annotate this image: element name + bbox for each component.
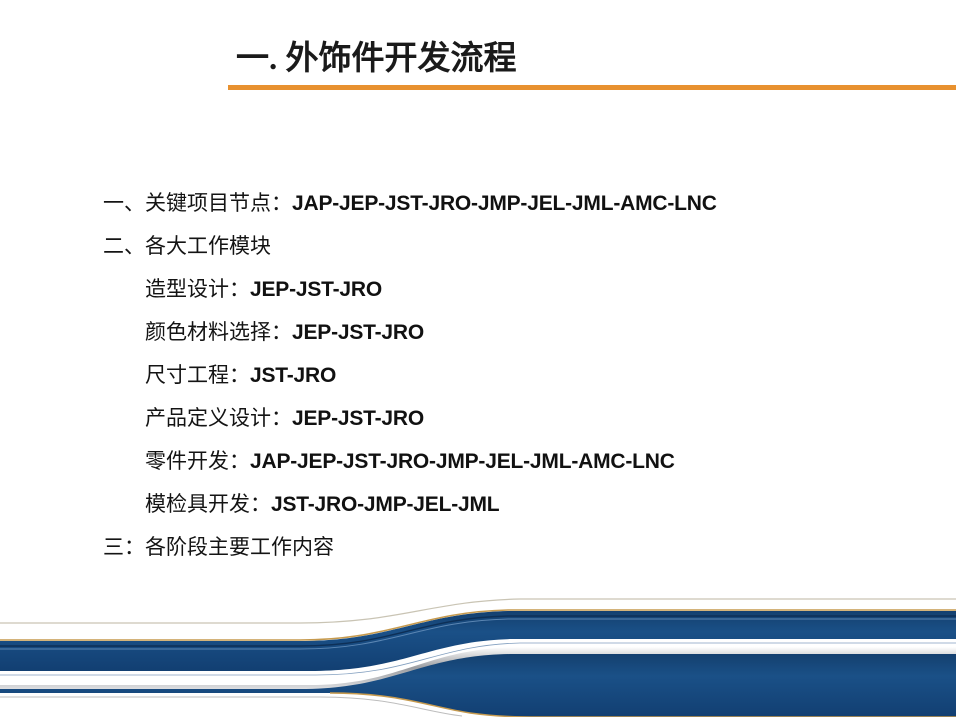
list-item-label: 造型设计： — [145, 277, 250, 301]
footer-inner-line-dark — [0, 616, 956, 646]
body-content: 一、关键项目节点：JAP-JEP-JST-JRO-JMP-JEL-JML-AMC… — [0, 182, 956, 569]
list-item-label: 零件开发： — [145, 449, 250, 473]
list-item: 产品定义设计：JEP-JST-JRO — [145, 397, 956, 440]
footer-blue-band-main — [0, 611, 956, 671]
page-title: 一. 外饰件开发流程 — [236, 38, 517, 80]
list-item-label: 模检具开发： — [145, 492, 271, 516]
list-item-label: 产品定义设计： — [145, 406, 292, 430]
list-item-value: JEP-JST-JRO — [250, 278, 382, 301]
list-item-value: JAP-JEP-JST-JRO-JMP-JEL-JML-AMC-LNC — [250, 450, 675, 473]
footer-gold-hairline — [0, 610, 956, 640]
footer-decoration — [0, 597, 956, 717]
list-item-value: JAP-JEP-JST-JRO-JMP-JEL-JML-AMC-LNC — [292, 192, 717, 215]
footer-right-hairline — [0, 643, 956, 675]
list-item-label: 一、关键项目节点： — [103, 191, 292, 215]
list-item: 尺寸工程：JST-JRO — [145, 354, 956, 397]
footer-hairline-top — [0, 599, 956, 623]
list-item: 造型设计：JEP-JST-JRO — [145, 268, 956, 311]
footer-gray-band — [0, 647, 956, 693]
footer-inner-line-light — [0, 619, 956, 649]
list-item: 模检具开发：JST-JRO-JMP-JEL-JML — [145, 483, 956, 526]
list-item-label: 颜色材料选择： — [145, 320, 292, 344]
list-item-value: JST-JRO-JMP-JEL-JML — [271, 493, 499, 516]
footer-bottom-sweep — [0, 693, 540, 717]
list-item-label: 二、各大工作模块 — [103, 234, 271, 258]
presentation-slide: 一. 外饰件开发流程 一、关键项目节点：JAP-JEP-JST-JRO-JMP-… — [0, 0, 956, 717]
list-item: 一、关键项目节点：JAP-JEP-JST-JRO-JMP-JEL-JML-AMC… — [103, 182, 956, 225]
list-item: 三：各阶段主要工作内容 — [103, 526, 956, 569]
list-item-value: JST-JRO — [250, 364, 336, 387]
list-item: 颜色材料选择：JEP-JST-JRO — [145, 311, 956, 354]
list-item-value: JEP-JST-JRO — [292, 407, 424, 430]
footer-blue-band-lower — [0, 654, 956, 717]
list-item-label: 三：各阶段主要工作内容 — [103, 535, 334, 559]
list-item: 零件开发：JAP-JEP-JST-JRO-JMP-JEL-JML-AMC-LNC — [145, 440, 956, 483]
list-item-label: 尺寸工程： — [145, 363, 250, 387]
title-block: 一. 外饰件开发流程 — [0, 38, 956, 90]
title-underline-rule — [228, 85, 956, 90]
list-item-value: JEP-JST-JRO — [292, 321, 424, 344]
footer-bottom-gold-hairline — [330, 693, 956, 717]
footer-bottom-gray-hairline — [0, 697, 462, 716]
list-item: 二、各大工作模块 — [103, 225, 956, 268]
